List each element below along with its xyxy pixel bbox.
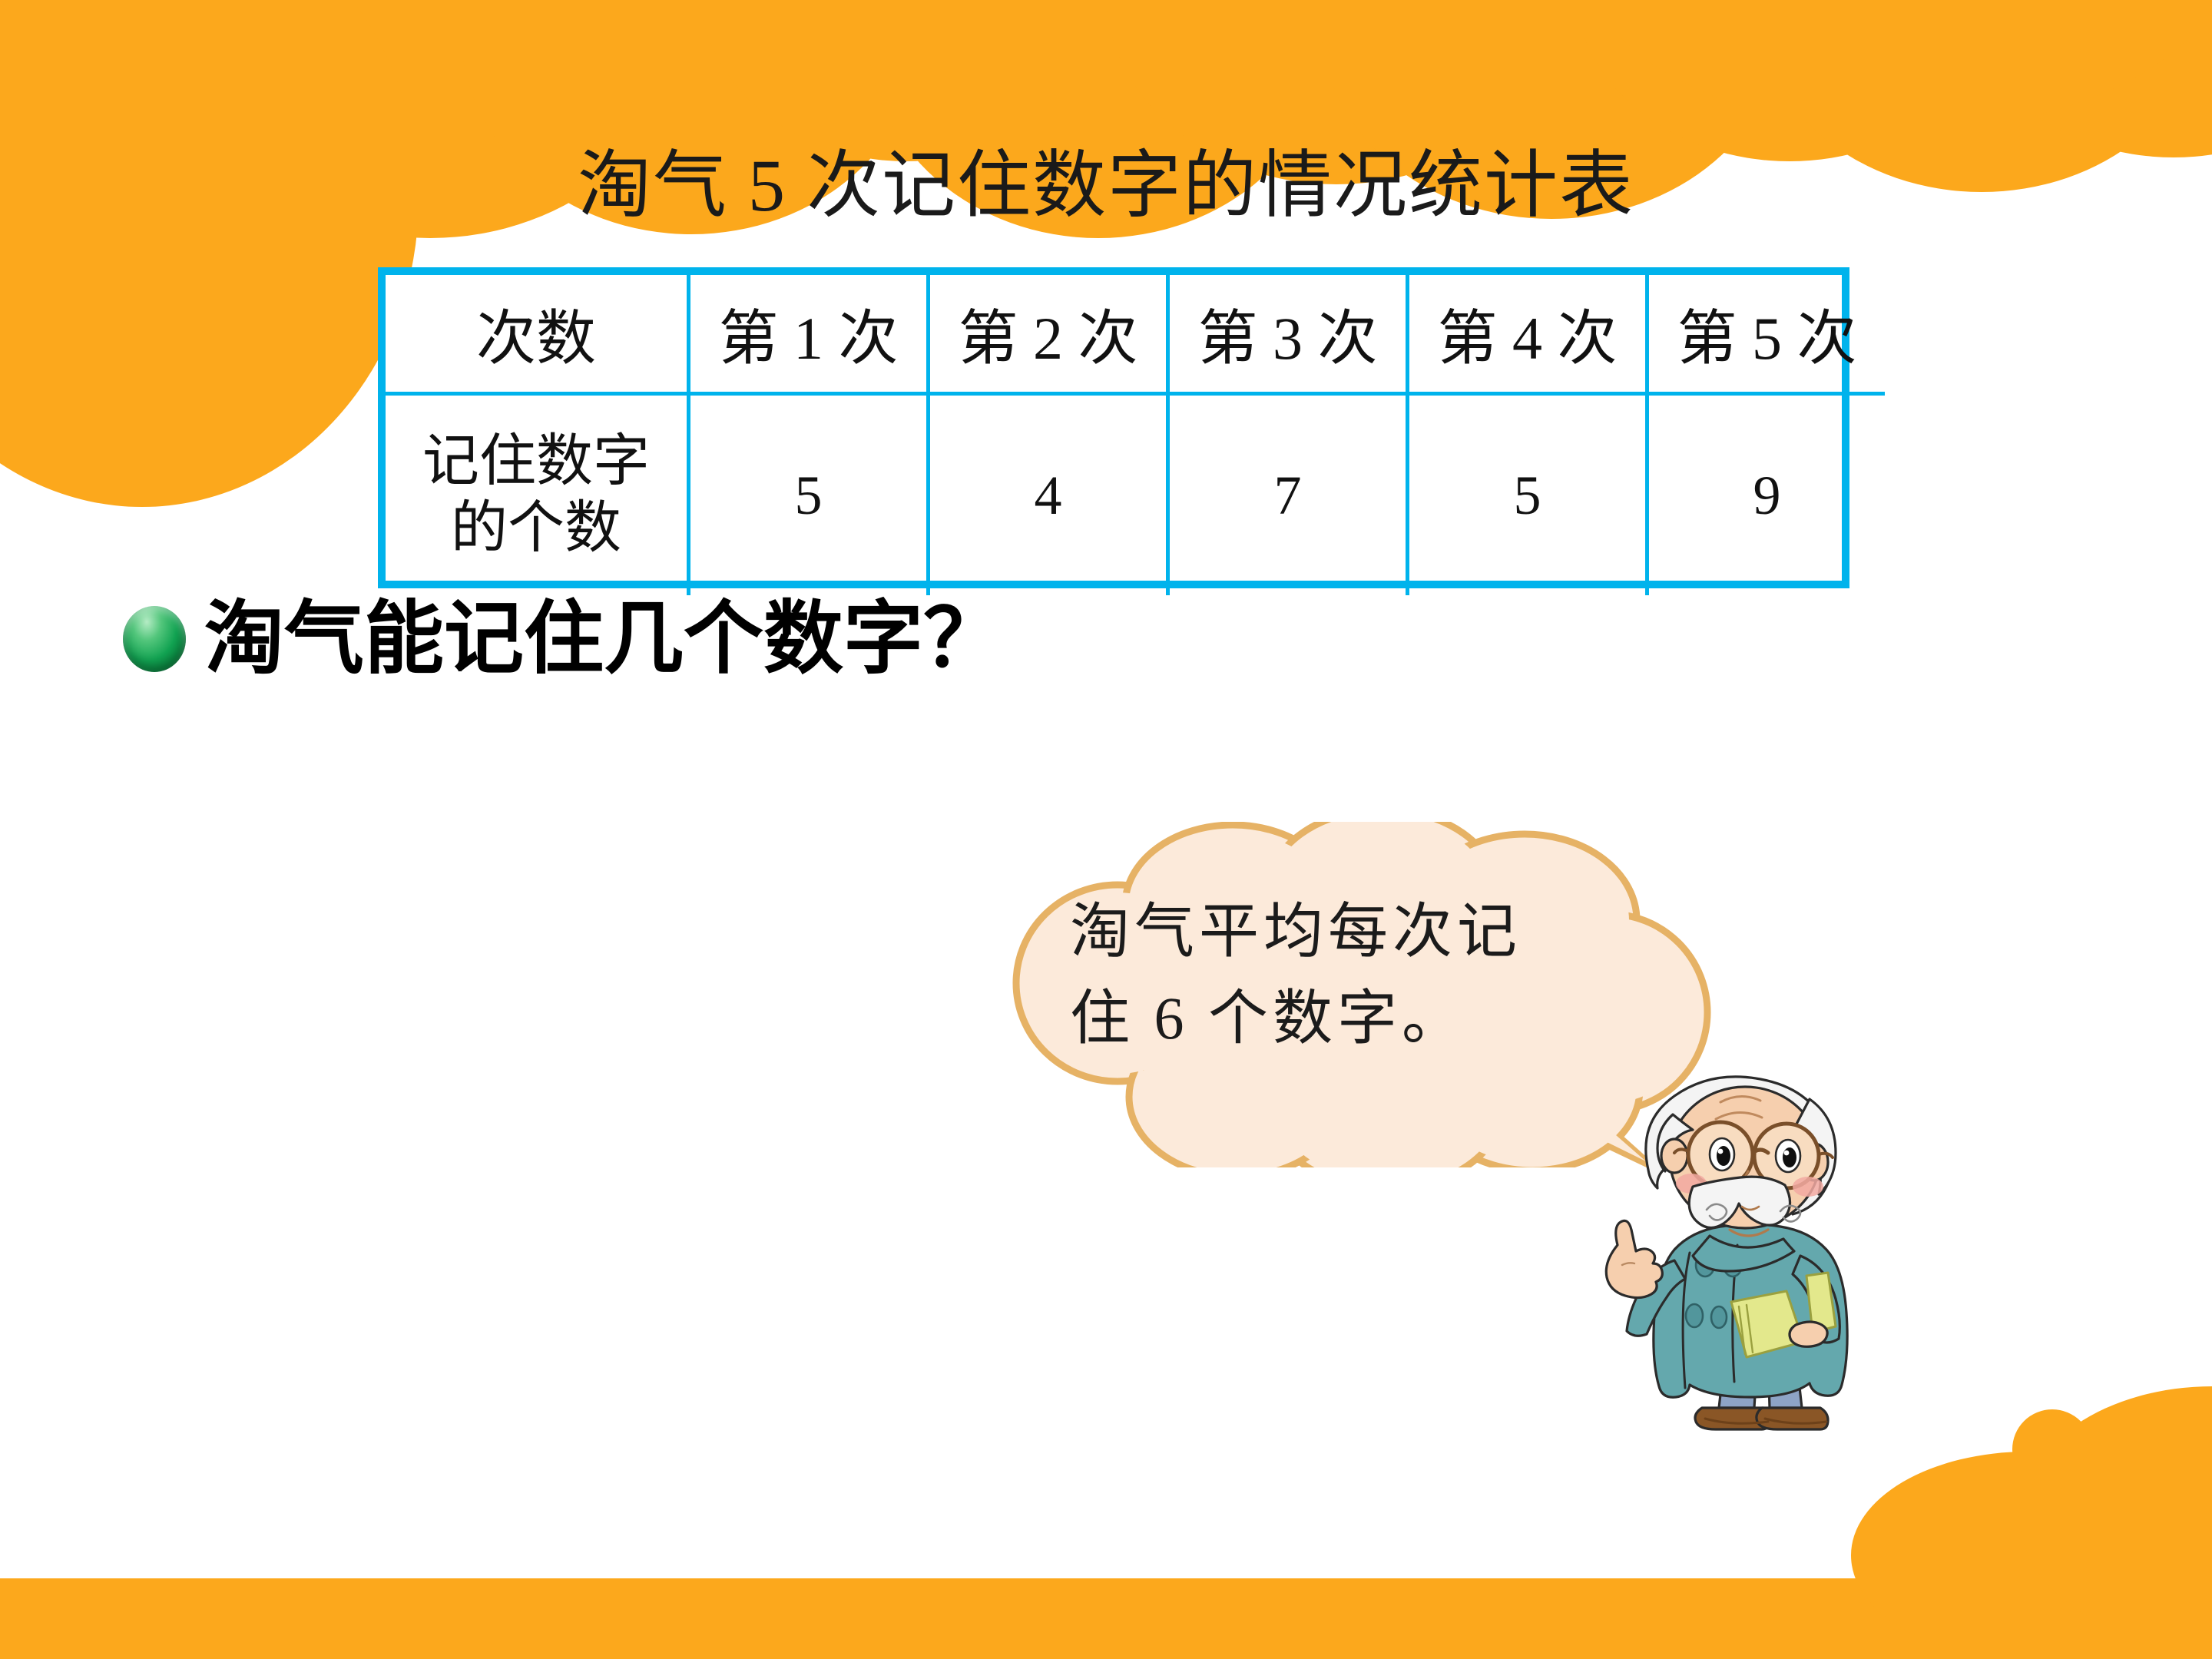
professor-grandpa-illustration <box>1604 1071 1911 1436</box>
data-cell-3: 7 <box>1168 394 1408 596</box>
header-cell-2: 第 2 次 <box>929 275 1168 394</box>
green-sphere-bullet-icon <box>123 606 186 672</box>
speech-bubble-line-2: 住 6 个数字。 <box>1070 975 1654 1061</box>
professor-figure-icon <box>1604 1071 1911 1436</box>
statistics-table: 次数 第 1 次 第 2 次 第 3 次 第 4 次 第 5 次 记住数字 的个… <box>378 267 1849 588</box>
question-line: 淘气能记住几个数字？ <box>123 599 1003 679</box>
data-cell-1: 5 <box>689 394 929 596</box>
data-row-label: 记住数字 的个数 <box>386 394 689 596</box>
question-text: 淘气能记住几个数字？ <box>204 599 1003 679</box>
speech-bubble-text: 淘气平均每次记 住 6 个数字。 <box>1070 888 1654 1061</box>
table-header-row: 次数 第 1 次 第 2 次 第 3 次 第 4 次 第 5 次 <box>386 275 1885 394</box>
data-cell-2: 4 <box>929 394 1168 596</box>
header-cell-3: 第 3 次 <box>1168 275 1408 394</box>
speech-bubble-line-1: 淘气平均每次记 <box>1070 888 1654 975</box>
header-row-label: 次数 <box>386 275 689 394</box>
header-cell-4: 第 4 次 <box>1408 275 1647 394</box>
header-cell-5: 第 5 次 <box>1647 275 1886 394</box>
data-cell-5: 9 <box>1647 394 1886 596</box>
data-row-label-line1: 记住数字 <box>422 430 650 493</box>
data-cell-4: 5 <box>1408 394 1647 596</box>
table-data-row: 记住数字 的个数 5 4 7 5 9 <box>386 394 1885 596</box>
header-cell-1: 第 1 次 <box>689 275 929 394</box>
data-row-label-line2: 的个数 <box>451 497 621 560</box>
page-title: 淘气 5 次记住数字的情况统计表 <box>0 144 2212 227</box>
slide-canvas: 淘气 5 次记住数字的情况统计表 次数 第 1 次 第 2 次 第 3 次 第 … <box>0 0 2212 1659</box>
